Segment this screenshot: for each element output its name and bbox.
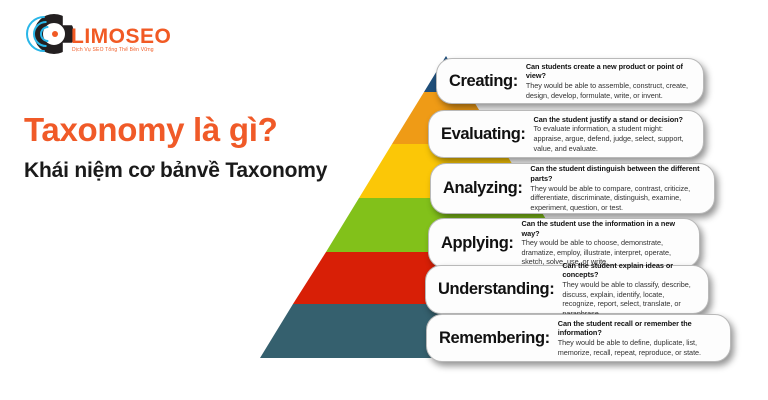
callout-analyzing[interactable]: Analyzing: Can the student distinguish b… [430, 163, 715, 214]
callout-answer-evaluating: To evaluate information, a student might… [534, 124, 693, 153]
callout-label-applying: Applying: [441, 234, 521, 253]
callout-answer-remembering: They would be able to define, duplicate,… [558, 338, 720, 357]
callout-question-evaluating: Can the student justify a stand or decis… [534, 115, 693, 125]
callout-label-analyzing: Analyzing: [443, 179, 530, 198]
callout-label-creating: Creating: [449, 72, 526, 91]
callout-body-evaluating: Can the student justify a stand or decis… [534, 115, 693, 154]
callout-remembering[interactable]: Remembering: Can the student recall or r… [426, 314, 731, 362]
callout-label-evaluating: Evaluating: [441, 125, 534, 144]
callout-answer-analyzing: They would be able to compare, contrast,… [530, 184, 704, 213]
callout-body-understanding: Can the student explain ideas or concept… [562, 261, 698, 319]
callout-answer-understanding: They would be able to classify, describe… [562, 280, 698, 319]
brand-logo[interactable]: LIMOSEO Dịch Vụ SEO Tổng Thể Bền Vững [22, 8, 152, 68]
callout-question-applying: Can the student use the information in a… [521, 219, 689, 238]
brand-wordmark: LIMOSEO [71, 25, 171, 49]
signal-source-dot-icon [52, 31, 58, 37]
brand-tagline: Dịch Vụ SEO Tổng Thể Bền Vững [72, 47, 154, 53]
callout-body-remembering: Can the student recall or remember the i… [558, 319, 720, 358]
callout-creating[interactable]: Creating: Can students create a new prod… [436, 58, 704, 104]
callout-label-understanding: Understanding: [438, 280, 562, 299]
callout-body-creating: Can students create a new product or poi… [526, 62, 693, 101]
callout-question-understanding: Can the student explain ideas or concept… [562, 261, 698, 280]
callout-question-analyzing: Can the student distinguish between the … [530, 164, 704, 183]
callout-label-remembering: Remembering: [439, 329, 558, 348]
infographic-canvas: LIMOSEO Dịch Vụ SEO Tổng Thể Bền Vững Ta… [0, 0, 768, 400]
callout-answer-creating: They would be able to assemble, construc… [526, 81, 693, 100]
limoseo-signal-logo-icon [22, 10, 78, 66]
callout-body-analyzing: Can the student distinguish between the … [530, 164, 704, 212]
callout-understanding[interactable]: Understanding: Can the student explain i… [425, 265, 709, 314]
callout-evaluating[interactable]: Evaluating: Can the student justify a st… [428, 110, 704, 158]
callout-question-creating: Can students create a new product or poi… [526, 62, 693, 81]
callout-question-remembering: Can the student recall or remember the i… [558, 319, 720, 338]
